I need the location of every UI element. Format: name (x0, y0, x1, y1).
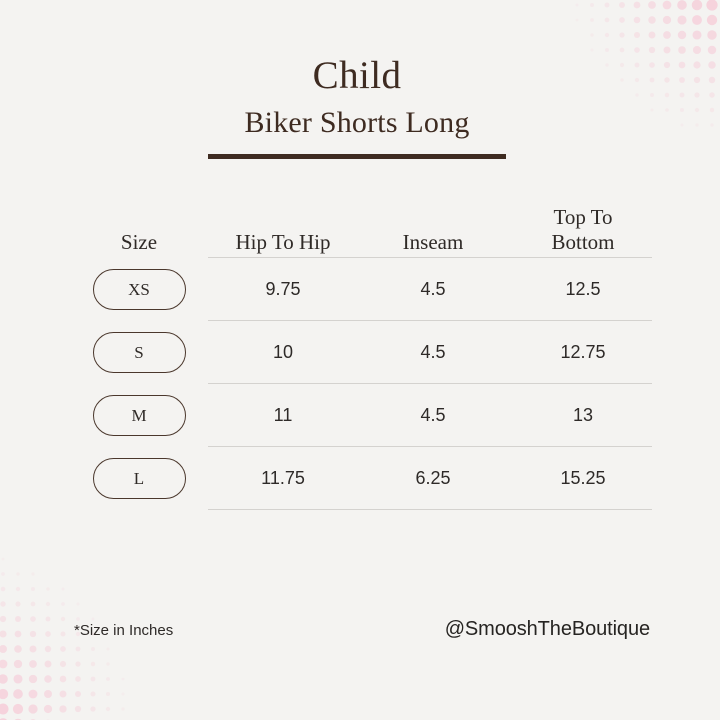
page-title: Child (208, 56, 506, 97)
size-badge-cell: M (70, 395, 208, 436)
cell-hip-to-hip: 11 (208, 405, 358, 426)
page-subtitle: Biker Shorts Long (208, 104, 506, 142)
size-badge-cell: XS (70, 269, 208, 310)
header-hip-to-hip: Hip To Hip (208, 230, 358, 258)
status-badge: S (93, 332, 186, 373)
table-row: L 11.75 6.25 15.25 (70, 447, 660, 510)
status-badge: M (93, 395, 186, 436)
table-row: M 11 4.5 13 (70, 384, 660, 447)
cell-inseam: 6.25 (358, 468, 508, 489)
title-block: Child Biker Shorts Long (208, 56, 506, 159)
cell-hip-to-hip: 11.75 (208, 468, 358, 489)
brand-handle: @SmooshTheBoutique (445, 618, 650, 641)
cell-top-to-bottom: 12.5 (508, 279, 658, 300)
size-badge-cell: L (70, 458, 208, 499)
title-divider (208, 154, 506, 159)
cell-hip-to-hip: 10 (208, 342, 358, 363)
footer: *Size in Inches @SmooshTheBoutique (0, 618, 720, 652)
unit-note: *Size in Inches (74, 622, 173, 639)
cell-inseam: 4.5 (358, 342, 508, 363)
table-row: XS 9.75 4.5 12.5 (70, 258, 660, 321)
header-size: Size (70, 230, 208, 258)
cell-top-to-bottom: 12.75 (508, 342, 658, 363)
row-separator (208, 509, 652, 510)
table-row: S 10 4.5 12.75 (70, 321, 660, 384)
size-table: Size Hip To Hip Inseam Top To Bottom XS … (70, 186, 660, 510)
header-top-to-bottom-line2: Bottom (551, 230, 614, 254)
header-top-to-bottom: Top To Bottom (508, 205, 658, 258)
cell-top-to-bottom: 13 (508, 405, 658, 426)
size-chart-sheet: Child Biker Shorts Long Size Hip To Hip … (0, 0, 720, 720)
cell-inseam: 4.5 (358, 405, 508, 426)
header-top-to-bottom-line1: Top To (553, 205, 612, 229)
header-inseam: Inseam (358, 230, 508, 258)
cell-inseam: 4.5 (358, 279, 508, 300)
cell-hip-to-hip: 9.75 (208, 279, 358, 300)
size-badge-cell: S (70, 332, 208, 373)
status-badge: XS (93, 269, 186, 310)
cell-top-to-bottom: 15.25 (508, 468, 658, 489)
status-badge: L (93, 458, 186, 499)
table-header-row: Size Hip To Hip Inseam Top To Bottom (70, 186, 660, 258)
